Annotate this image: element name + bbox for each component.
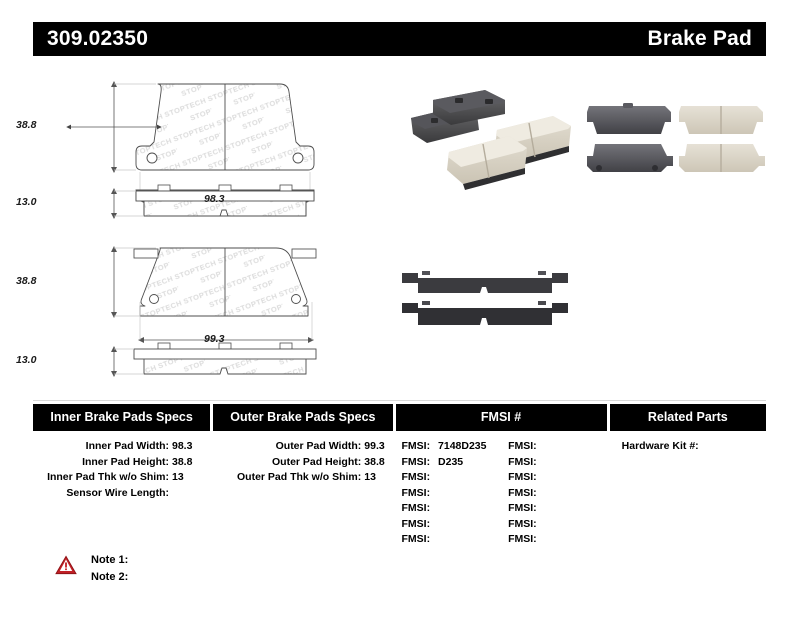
column-header-outer-specs: Outer Brake Pads Specs bbox=[213, 404, 392, 431]
spec-label: Outer Pad Thk w/o Shim: bbox=[213, 470, 364, 486]
inner-pad-width-label: 98.3 bbox=[204, 193, 224, 205]
fmsi-row: FMSI: bbox=[402, 470, 501, 486]
spec-value: 98.3 bbox=[172, 439, 192, 455]
pad-edge-1 bbox=[402, 271, 568, 293]
pad-flat-3 bbox=[587, 144, 673, 172]
fmsi-row: FMSI: bbox=[402, 532, 501, 548]
fmsi-label: FMSI: bbox=[508, 486, 537, 502]
spec-row: Inner Pad Width: 98.3 bbox=[33, 439, 210, 455]
table-top-rule bbox=[33, 400, 766, 401]
pad-edge-2 bbox=[402, 301, 568, 325]
product-photo-angled bbox=[405, 86, 580, 196]
fmsi-row: FMSI: bbox=[508, 455, 607, 471]
fmsi-label: FMSI: bbox=[508, 501, 537, 517]
outer-specs-column: Outer Pad Width: 99.3 Outer Pad Height: … bbox=[213, 439, 392, 548]
inner-specs-column: Inner Pad Width: 98.3 Inner Pad Height: … bbox=[33, 439, 210, 548]
fmsi-row: FMSI: bbox=[402, 501, 501, 517]
table-header-row: Inner Brake Pads Specs Outer Brake Pads … bbox=[33, 404, 766, 431]
spec-label: Outer Pad Height: bbox=[213, 455, 364, 471]
fmsi-label: FMSI: bbox=[508, 532, 537, 548]
notes-section: Note 1: Note 2: bbox=[55, 552, 128, 586]
part-number: 309.02350 bbox=[47, 27, 148, 51]
fmsi-row: FMSI: bbox=[508, 532, 607, 548]
fmsi-row: FMSI: bbox=[508, 501, 607, 517]
fmsi-label: FMSI: bbox=[402, 532, 431, 548]
spec-table: Inner Brake Pads Specs Outer Brake Pads … bbox=[33, 404, 766, 548]
fmsi-value: D235 bbox=[433, 455, 463, 471]
spec-label: Inner Pad Width: bbox=[33, 439, 172, 455]
note-item-2: Note 2: bbox=[91, 569, 128, 586]
inner-pad-face-view bbox=[136, 84, 314, 170]
spec-sheet-page: 309.02350 Brake Pad STOPTECH STOPTECH bbox=[0, 0, 800, 619]
fmsi-label: FMSI: bbox=[402, 439, 431, 455]
related-part-label: Hardware Kit #: bbox=[622, 440, 699, 452]
fmsi-subcolumn-left: FMSI: 7148D235 FMSI: D235 FMSI: FMSI: bbox=[396, 439, 501, 548]
fmsi-label: FMSI: bbox=[508, 470, 537, 486]
note-item-1: Note 1: bbox=[91, 552, 128, 569]
table-body: Inner Pad Width: 98.3 Inner Pad Height: … bbox=[33, 439, 766, 548]
product-photo-flat bbox=[585, 100, 765, 182]
fmsi-row: FMSI: bbox=[508, 486, 607, 502]
fmsi-label: FMSI: bbox=[508, 455, 537, 471]
spec-row: Outer Pad Height: 38.8 bbox=[213, 455, 392, 471]
spec-label: Inner Pad Thk w/o Shim: bbox=[33, 470, 172, 486]
outer-pad-side-view bbox=[134, 343, 316, 374]
spec-row: Outer Pad Thk w/o Shim: 13 bbox=[213, 470, 392, 486]
fmsi-subcolumn-right: FMSI: FMSI: FMSI: FMSI: bbox=[500, 439, 607, 548]
fmsi-label: FMSI: bbox=[402, 501, 431, 517]
product-photo-edge bbox=[400, 265, 570, 330]
fmsi-column: FMSI: 7148D235 FMSI: D235 FMSI: FMSI: bbox=[396, 439, 607, 548]
spec-value: 38.8 bbox=[172, 455, 192, 471]
spec-row: Outer Pad Width: 99.3 bbox=[213, 439, 392, 455]
spec-value: 13 bbox=[172, 470, 184, 486]
pad-photo-4 bbox=[447, 136, 527, 190]
fmsi-row: FMSI: 7148D235 bbox=[402, 439, 501, 455]
fmsi-row: FMSI: bbox=[508, 517, 607, 533]
pad-flat-1 bbox=[587, 103, 671, 134]
spec-label: Sensor Wire Length: bbox=[33, 486, 172, 502]
fmsi-label: FMSI: bbox=[402, 470, 431, 486]
column-header-related-parts: Related Parts bbox=[610, 404, 766, 431]
related-parts-column: Hardware Kit #: bbox=[610, 439, 766, 548]
spec-value: 99.3 bbox=[364, 439, 384, 455]
spec-row: Sensor Wire Length: bbox=[33, 486, 210, 502]
drawing-svg: STOPTECH STOPTECH bbox=[100, 72, 400, 382]
page-title: Brake Pad bbox=[647, 27, 752, 51]
fmsi-label: FMSI: bbox=[402, 486, 431, 502]
warning-triangle-icon bbox=[55, 555, 77, 575]
pad-flat-2 bbox=[679, 106, 763, 134]
column-header-fmsi: FMSI # bbox=[396, 404, 607, 431]
spec-row: Inner Pad Height: 38.8 bbox=[33, 455, 210, 471]
inner-pad-side-view bbox=[136, 185, 314, 216]
outer-pad-width-label: 99.3 bbox=[204, 333, 224, 345]
inner-pad-thickness-label: 13.0 bbox=[16, 196, 36, 208]
pad-flat-4 bbox=[679, 144, 765, 172]
fmsi-label: FMSI: bbox=[508, 439, 537, 455]
fmsi-label: FMSI: bbox=[402, 517, 431, 533]
fmsi-row: FMSI: bbox=[402, 486, 501, 502]
spec-value: 38.8 bbox=[364, 455, 384, 471]
related-part-row: Hardware Kit #: bbox=[610, 439, 766, 455]
fmsi-row: FMSI: bbox=[508, 470, 607, 486]
fmsi-label: FMSI: bbox=[508, 517, 537, 533]
spec-label: Outer Pad Width: bbox=[213, 439, 364, 455]
note-list: Note 1: Note 2: bbox=[91, 552, 128, 586]
fmsi-value: 7148D235 bbox=[433, 439, 486, 455]
fmsi-row: FMSI: bbox=[508, 439, 607, 455]
column-header-inner-specs: Inner Brake Pads Specs bbox=[33, 404, 210, 431]
spec-row: Inner Pad Thk w/o Shim: 13 bbox=[33, 470, 210, 486]
fmsi-row: FMSI: bbox=[402, 517, 501, 533]
fmsi-label: FMSI: bbox=[402, 455, 431, 471]
pad-photo-2 bbox=[433, 90, 505, 125]
header-bar: 309.02350 Brake Pad bbox=[33, 22, 766, 56]
outer-pad-height-label: 38.8 bbox=[16, 275, 36, 287]
spec-label: Inner Pad Height: bbox=[33, 455, 172, 471]
inner-pad-height-label: 38.8 bbox=[16, 119, 36, 131]
outer-pad-thickness-label: 13.0 bbox=[16, 354, 36, 366]
technical-drawings: STOPTECH STOPTECH bbox=[100, 72, 400, 382]
spec-value: 13 bbox=[364, 470, 376, 486]
fmsi-row: FMSI: D235 bbox=[402, 455, 501, 471]
outer-pad-face-view bbox=[134, 248, 316, 316]
